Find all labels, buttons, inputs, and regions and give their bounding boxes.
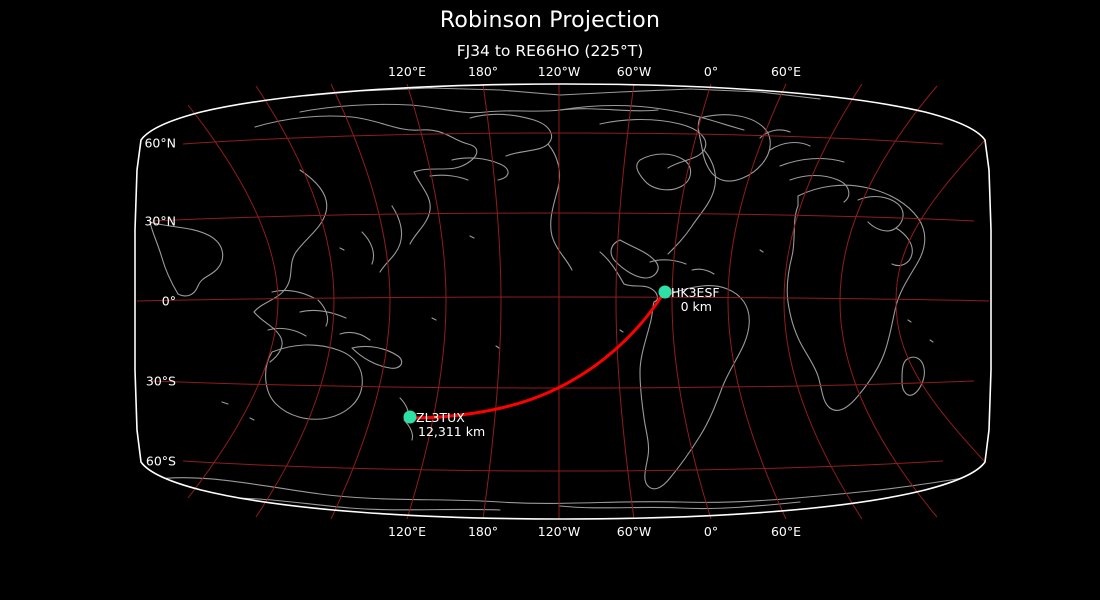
lon-tick-top-2: 120°W — [538, 64, 580, 79]
lon-tick-top-3: 60°W — [617, 64, 652, 79]
map-figure: Robinson Projection FJ34 to RE66HO (225°… — [0, 0, 1100, 600]
graticule-parallels — [137, 133, 989, 471]
label-zl3tux-distance: 12,311 km — [416, 425, 485, 439]
lat-tick-0: 60°N — [108, 136, 176, 151]
graticule-meridians — [188, 84, 985, 519]
map-boundary — [135, 84, 991, 519]
label-hk3esf-callsign: HK3ESF — [671, 285, 720, 300]
lon-tick-top-0: 120°E — [388, 64, 426, 79]
lon-tick-bottom-3: 60°W — [617, 524, 652, 539]
marker-hk3esf[interactable] — [659, 286, 672, 299]
label-zl3tux: ZL3TUX 12,311 km — [416, 411, 485, 439]
lon-tick-bottom-4: 0° — [704, 524, 718, 539]
lon-tick-top-4: 0° — [704, 64, 718, 79]
label-zl3tux-callsign: ZL3TUX — [416, 410, 465, 425]
lon-tick-top-5: 60°E — [771, 64, 801, 79]
label-hk3esf: HK3ESF 0 km — [671, 286, 720, 314]
marker-zl3tux[interactable] — [404, 411, 417, 424]
lon-tick-bottom-0: 120°E — [388, 524, 426, 539]
label-hk3esf-distance: 0 km — [671, 300, 720, 314]
lat-tick-3: 30°S — [108, 374, 176, 389]
lat-tick-2: 0° — [108, 294, 176, 309]
lat-tick-1: 30°N — [108, 214, 176, 229]
lon-tick-bottom-2: 120°W — [538, 524, 580, 539]
lon-tick-bottom-1: 180° — [468, 524, 498, 539]
great-circle-path — [412, 294, 663, 418]
lon-tick-bottom-5: 60°E — [771, 524, 801, 539]
lon-tick-top-1: 180° — [468, 64, 498, 79]
lat-tick-4: 60°S — [108, 454, 176, 469]
